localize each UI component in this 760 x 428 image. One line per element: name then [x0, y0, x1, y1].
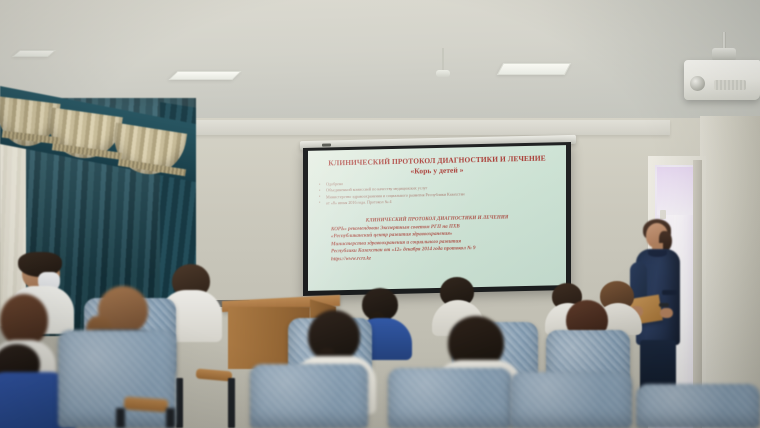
projector-lens-icon [690, 76, 705, 91]
attendee-hair [0, 294, 48, 346]
doorway-light-glow [657, 167, 693, 215]
right-wall-pillar [700, 116, 760, 428]
chair-leg [228, 378, 235, 428]
projection-screen: КЛИНИЧЕСКИЙ ПРОТОКОЛ ДИАГНОСТИКИ И ЛЕЧЕН… [303, 142, 571, 296]
wall-switch-plate-icon [660, 210, 666, 219]
chair-leg [116, 408, 125, 428]
slide-bullet-list: Одобрено Объединенной комиссией по качес… [317, 176, 557, 206]
presenter-collar [648, 250, 667, 257]
chair-row1-right [510, 372, 632, 428]
chair-row1-center-right [388, 368, 512, 428]
slide-body: КЛИНИЧЕСКИЙ ПРОТОКОЛ ДИАГНОСТИКИ И ЛЕЧЕН… [317, 213, 557, 264]
chair-leg [166, 408, 175, 428]
wristwatch-icon [659, 303, 669, 307]
ceiling-smoke-detector-icon [436, 70, 450, 77]
panel-light-left-icon [168, 71, 241, 80]
panel-light-right-icon [497, 63, 571, 75]
projector-vent [714, 80, 746, 90]
wall-cornice [150, 120, 670, 135]
slide-title: КЛИНИЧЕСКИЙ ПРОТОКОЛ ДИАГНОСТИКИ И ЛЕЧЕН… [319, 153, 555, 178]
chair-row1-center [250, 364, 368, 428]
chair-row1-far-right [636, 384, 760, 428]
chair-leg [176, 378, 183, 428]
presenter-hand-right [660, 308, 673, 318]
slide-content: КЛИНИЧЕСКИЙ ПРОТОКОЛ ДИАГНОСТИКИ И ЛЕЧЕН… [308, 145, 566, 291]
screen-housing-button [322, 143, 331, 146]
presenter-sleeve-cuff [662, 290, 677, 295]
lecture-hall-photo: КЛИНИЧЕСКИЙ ПРОТОКОЛ ДИАГНОСТИКИ И ЛЕЧЕН… [0, 0, 760, 428]
screen-surface: КЛИНИЧЕСКИЙ ПРОТОКОЛ ДИАГНОСТИКИ И ЛЕЧЕН… [308, 145, 566, 291]
pendant-rod [442, 48, 444, 72]
